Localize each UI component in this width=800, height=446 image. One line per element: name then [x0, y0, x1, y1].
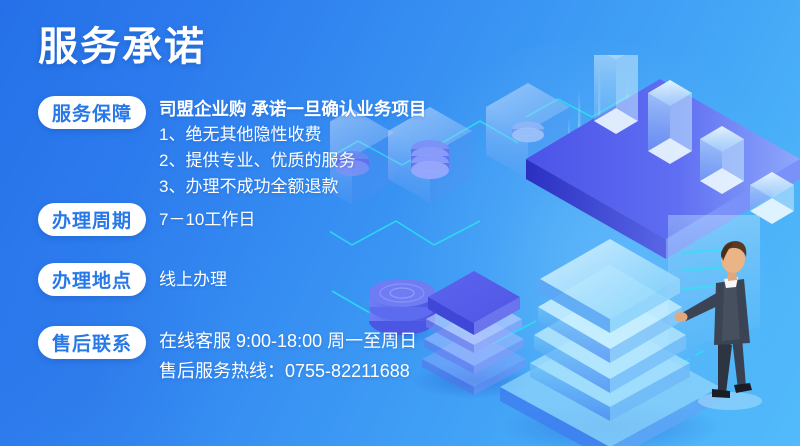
chart-bar-2 — [648, 80, 692, 164]
guarantee-line-headline: 司盟企业购 承诺一旦确认业务项目 — [159, 96, 426, 122]
after-sales-contact-body: 在线客服 9:00-18:00 周一至周日 售后服务热线：0755-822116… — [159, 326, 417, 386]
chart-bar-1 — [594, 55, 638, 134]
badge-after-sales-contact[interactable]: 售后联系 — [38, 326, 146, 359]
processing-location-value: 线上办理 — [159, 263, 227, 296]
processing-location-body: 线上办理 — [159, 263, 227, 296]
promise-content: 服务承诺 服务保障 司盟企业购 承诺一旦确认业务项目 1、绝无其他隐性收费 2、… — [0, 0, 470, 446]
after-sales-hotline[interactable]: 售后服务热线：0755-82211688 — [159, 356, 417, 386]
badge-processing-location[interactable]: 办理地点 — [38, 263, 146, 296]
section-service-guarantee: 服务保障 司盟企业购 承诺一旦确认业务项目 1、绝无其他隐性收费 2、提供专业、… — [38, 96, 426, 200]
service-promise-banner: 服务承诺 服务保障 司盟企业购 承诺一旦确认业务项目 1、绝无其他隐性收费 2、… — [0, 0, 800, 446]
section-processing-cycle: 办理周期 7－10工作日 — [38, 203, 255, 236]
online-service-hours: 在线客服 9:00-18:00 周一至周日 — [159, 326, 417, 356]
guarantee-line-1: 1、绝无其他隐性收费 — [159, 122, 426, 148]
chart-bar-3 — [700, 126, 744, 194]
badge-service-guarantee[interactable]: 服务保障 — [38, 96, 146, 129]
page-title: 服务承诺 — [38, 27, 206, 67]
section-processing-location: 办理地点 线上办理 — [38, 263, 227, 296]
processing-cycle-body: 7－10工作日 — [159, 203, 255, 236]
service-guarantee-body: 司盟企业购 承诺一旦确认业务项目 1、绝无其他隐性收费 2、提供专业、优质的服务… — [159, 96, 426, 200]
guarantee-line-3: 3、办理不成功全额退款 — [159, 174, 426, 200]
processing-cycle-value: 7－10工作日 — [159, 203, 255, 236]
section-after-sales-contact: 售后联系 在线客服 9:00-18:00 周一至周日 售后服务热线：0755-8… — [38, 326, 417, 386]
badge-processing-cycle[interactable]: 办理周期 — [38, 203, 146, 236]
guarantee-line-2: 2、提供专业、优质的服务 — [159, 148, 426, 174]
